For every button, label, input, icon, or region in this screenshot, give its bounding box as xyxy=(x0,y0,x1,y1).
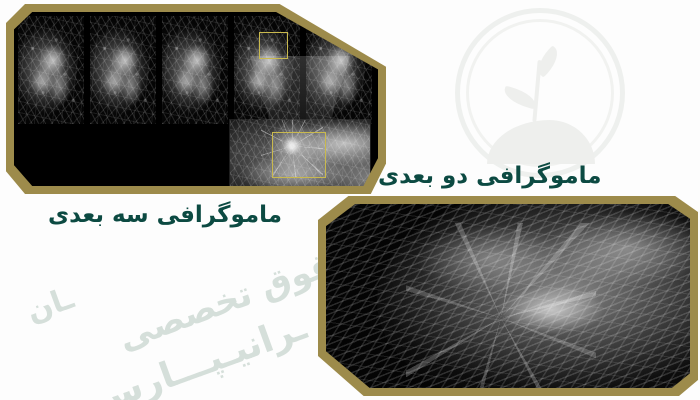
three-d-mammography-panel xyxy=(318,196,698,396)
watermark-line-2: ـقوق تخصصی xyxy=(113,240,351,359)
tomosynthesis-slice[interactable] xyxy=(326,204,690,388)
logo-outer-ring xyxy=(455,8,625,178)
roi-box-inset[interactable] xyxy=(272,132,326,178)
two-d-mammography-panel xyxy=(6,4,386,194)
thumbnail-3[interactable] xyxy=(162,16,228,124)
logo-soil-mound xyxy=(487,120,595,164)
two-d-image-area xyxy=(14,12,378,186)
watermark-line-3: ـرانیـپـــارس xyxy=(88,307,312,400)
thumbnail-1[interactable] xyxy=(18,16,84,124)
seedling-circle-logo-icon xyxy=(455,8,625,178)
infographic-canvas: ـان ـقوق تخصصی ـرانیـپـــارس xyxy=(0,0,700,400)
logo-leaf-upper xyxy=(532,45,563,77)
watermark-line-1: ـان xyxy=(22,281,78,330)
three-d-image-area xyxy=(326,204,690,388)
magnified-inset-two-d[interactable] xyxy=(230,120,370,186)
logo-inner-ring xyxy=(466,19,614,167)
radiating-structure xyxy=(406,223,596,388)
thumbnail-2[interactable] xyxy=(90,16,156,124)
caption-two-d: ماموگرافی دو بعدی xyxy=(378,163,602,189)
roi-box-thumbnail[interactable] xyxy=(259,32,288,59)
logo-stem xyxy=(532,60,541,122)
logo-leaf-lower xyxy=(502,86,539,110)
caption-three-d: ماموگرافی سه بعدی xyxy=(48,202,282,228)
